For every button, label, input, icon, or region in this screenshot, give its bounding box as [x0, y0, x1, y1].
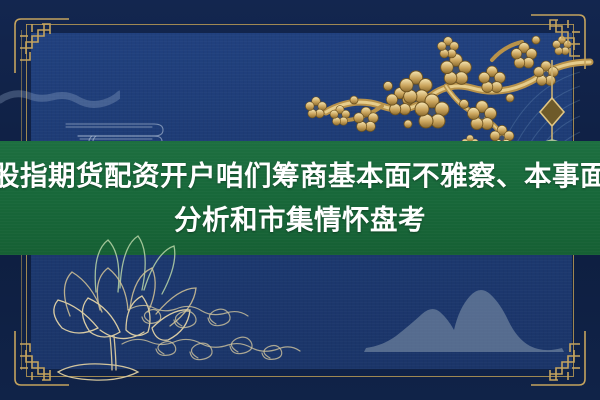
corner-fret-bottom-left-icon	[14, 330, 70, 386]
headline-line-2: 分析和市集情怀盘考	[174, 198, 426, 242]
corner-fret-top-right-icon	[530, 14, 586, 70]
headline-line-1: 股指期货配资开户咱们筹商基本面不雅察、本事面	[0, 154, 600, 198]
frame-rule-top	[26, 24, 574, 25]
frame-rule-bottom	[26, 376, 574, 377]
corner-fret-top-left-icon	[14, 18, 70, 74]
banner-image: 股指期货配资开户咱们筹商基本面不雅察、本事面 分析和市集情怀盘考	[0, 0, 600, 400]
corner-fret-bottom-right-icon	[530, 330, 586, 386]
headline-text: 股指期货配资开户咱们筹商基本面不雅察、本事面 分析和市集情怀盘考	[0, 141, 600, 255]
